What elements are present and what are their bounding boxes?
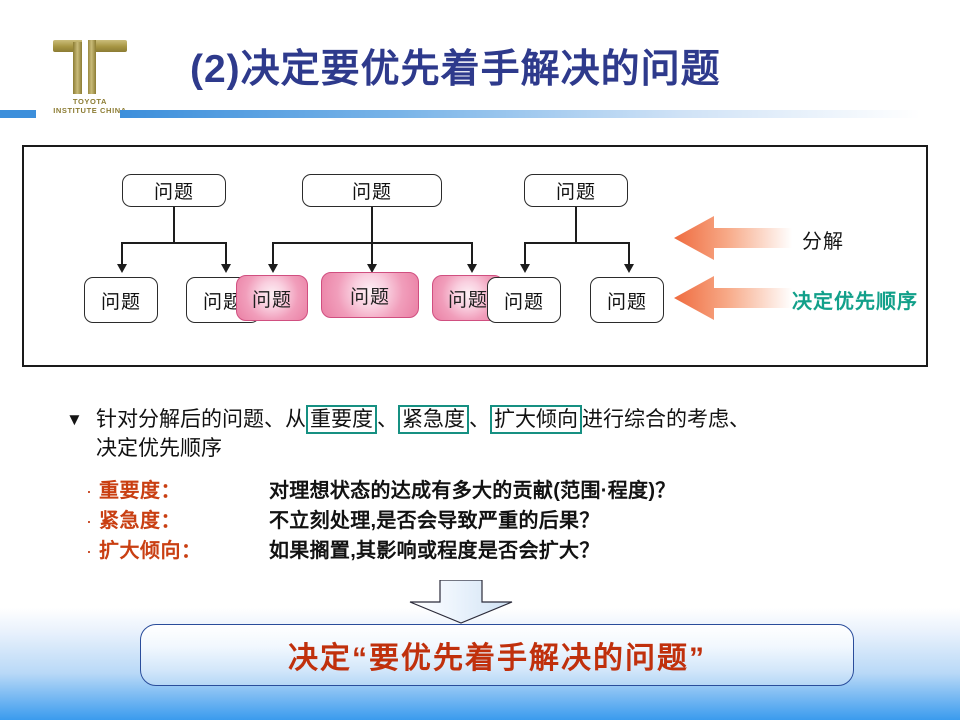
tree-connector-v-3 bbox=[575, 207, 577, 243]
tree-arrow-head-3a bbox=[520, 264, 530, 273]
tree-arrow-head-1b bbox=[221, 264, 231, 273]
definition-term-importance: 重要度： bbox=[99, 474, 269, 503]
bullet-line1-pre: 针对分解后的问题、从 bbox=[96, 408, 306, 431]
bullet-text: 针对分解后的问题、从重要度、紧急度、扩大倾向进行综合的考虑、 决定优先顺序 bbox=[96, 405, 936, 463]
definition-term-expansion: 扩大倾向： bbox=[99, 534, 269, 563]
definition-row-urgency: · 紧急度： 不立刻处理,是否会导致严重的后果？ bbox=[86, 504, 926, 534]
boxed-term-urgency: 紧急度 bbox=[398, 405, 469, 434]
definition-term-urgency: 紧急度： bbox=[99, 504, 269, 533]
tree-connector-drop-3a bbox=[524, 242, 526, 266]
tree-connector-drop-3b bbox=[628, 242, 630, 266]
bullet-block: ▼ 针对分解后的问题、从重要度、紧急度、扩大倾向进行综合的考虑、 决定优先顺序 bbox=[66, 405, 936, 463]
header-rule-right bbox=[120, 110, 920, 118]
logo-wordmark-line1: TOYOTA bbox=[44, 97, 136, 106]
definition-list: · 重要度： 对理想状态的达成有多大的贡献(范围·程度)？ · 紧急度： 不立刻… bbox=[86, 474, 926, 564]
tree-connector-v-2 bbox=[371, 207, 373, 243]
definition-desc-importance: 对理想状态的达成有多大的贡献(范围·程度)？ bbox=[269, 474, 676, 503]
bullet-row: ▼ 针对分解后的问题、从重要度、紧急度、扩大倾向进行综合的考虑、 决定优先顺序 bbox=[66, 405, 936, 463]
tree-connector-h-1 bbox=[121, 242, 226, 244]
definition-row-importance: · 重要度： 对理想状态的达成有多大的贡献(范围·程度)？ bbox=[86, 474, 926, 504]
tree-connector-drop-2c bbox=[471, 242, 473, 266]
tree-connector-drop-1a bbox=[121, 242, 123, 266]
logo-mark-icon bbox=[51, 38, 129, 94]
tree-child-node-1a: 问题 bbox=[84, 277, 158, 323]
diagram-panel: 问题 问题 问题 问题 问题 问题 问题 问题 问题 问题 bbox=[22, 145, 928, 367]
tree-child-node-2b: 问题 bbox=[321, 272, 419, 318]
dot-bullet-icon-2: · bbox=[86, 511, 99, 532]
down-block-arrow-icon bbox=[408, 580, 514, 624]
definition-row-expansion: · 扩大倾向： 如果搁置,其影响或程度是否会扩大？ bbox=[86, 534, 926, 564]
header-rule-left bbox=[0, 110, 36, 118]
boxed-term-importance: 重要度 bbox=[306, 405, 377, 434]
definition-desc-expansion: 如果搁置,其影响或程度是否会扩大？ bbox=[269, 534, 600, 563]
definition-desc-urgency: 不立刻处理,是否会导致严重的后果？ bbox=[269, 504, 600, 533]
tree-connector-v-1 bbox=[173, 207, 175, 243]
tree-connector-h-3 bbox=[524, 242, 629, 244]
result-text: 决定“要优先着手解决的问题” bbox=[288, 633, 706, 677]
page-title: (2)决定要优先着手解决的问题 bbox=[190, 38, 910, 94]
bullet-line2: 决定优先顺序 bbox=[96, 434, 936, 463]
tree-arrow-head-2c bbox=[467, 264, 477, 273]
bullet-line1-post: 进行综合的考虑、 bbox=[582, 408, 750, 431]
tree-child-node-3a: 问题 bbox=[487, 277, 561, 323]
tree-parent-node-1: 问题 bbox=[122, 174, 226, 207]
result-box: 决定“要优先着手解决的问题” bbox=[140, 624, 854, 686]
tree-arrow-head-3b bbox=[624, 264, 634, 273]
slide-canvas: TOYOTA INSTITUTE CHINA (2)决定要优先着手解决的问题 问… bbox=[0, 0, 960, 720]
tree-child-node-2a: 问题 bbox=[236, 275, 308, 321]
tree-parent-node-2: 问题 bbox=[302, 174, 442, 207]
triangle-bullet-icon: ▼ bbox=[66, 405, 96, 434]
logo-notch-shape bbox=[82, 40, 88, 94]
tree-arrow-head-1a bbox=[117, 264, 127, 273]
annotation-label-decompose: 分解 bbox=[802, 225, 844, 254]
annotation-label-priority: 决定优先顺序 bbox=[792, 285, 918, 314]
logo-stem-right-shape bbox=[87, 40, 96, 94]
tree-arrow-head-2a bbox=[268, 264, 278, 273]
tree-connector-drop-2b bbox=[371, 242, 373, 266]
tree-connector-drop-2a bbox=[272, 242, 274, 266]
dot-bullet-icon-3: · bbox=[86, 541, 99, 562]
bullet-sep-2: 、 bbox=[469, 408, 490, 431]
toyota-institute-china-logo: TOYOTA INSTITUTE CHINA bbox=[44, 38, 136, 116]
boxed-term-expansion: 扩大倾向 bbox=[490, 405, 582, 434]
tree-parent-node-3: 问题 bbox=[524, 174, 628, 207]
bullet-sep-1: 、 bbox=[377, 408, 398, 431]
tree-child-node-3b: 问题 bbox=[590, 277, 664, 323]
left-arrow-icon-priority bbox=[674, 275, 792, 321]
left-arrow-icon-decompose bbox=[674, 215, 792, 261]
tree-connector-drop-1b bbox=[225, 242, 227, 266]
logo-stem-left-shape bbox=[73, 42, 82, 94]
dot-bullet-icon-1: · bbox=[86, 481, 99, 502]
